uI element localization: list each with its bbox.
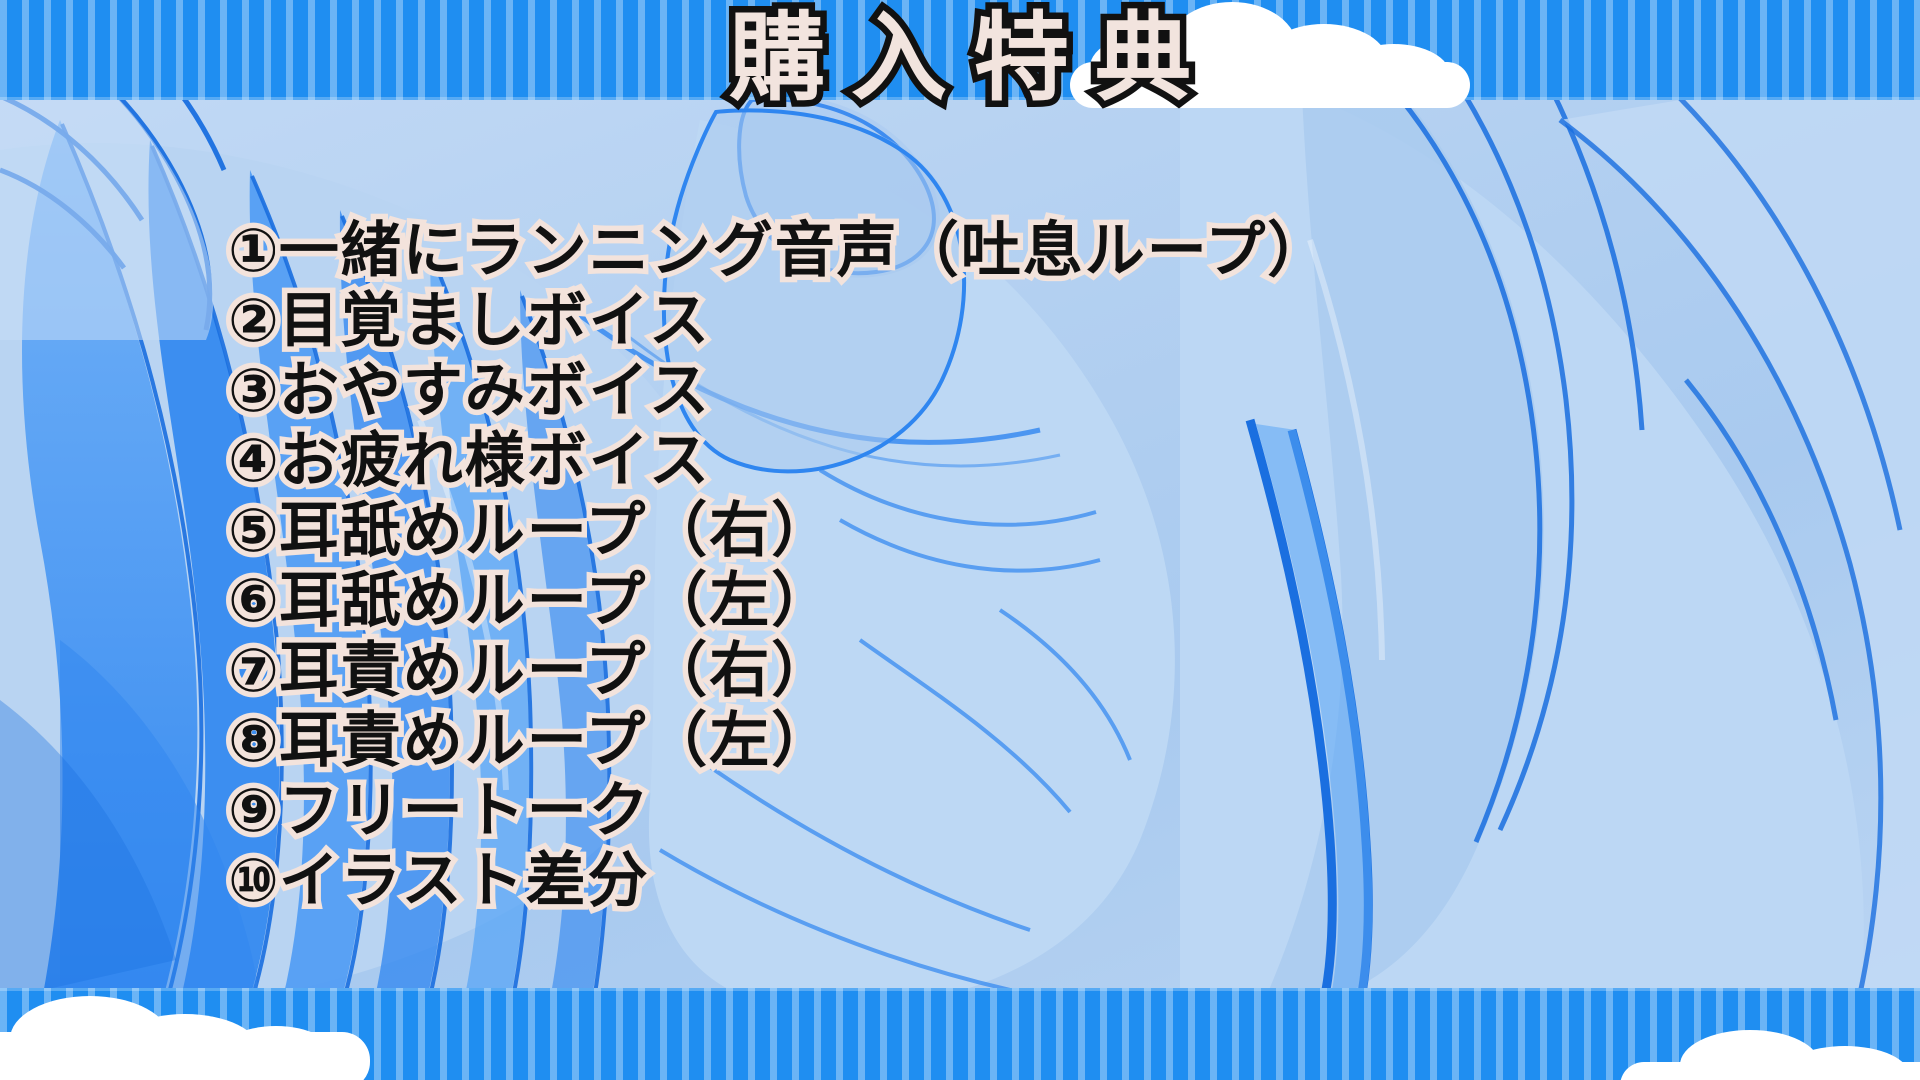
list-item: ⑩イラスト差分 xyxy=(228,846,1688,916)
list-item-number: ② xyxy=(228,286,279,356)
list-item: ①一緒にランニング音声（吐息ループ） xyxy=(228,216,1688,286)
list-item-label: イラスト差分 xyxy=(279,846,650,916)
cloud-cluster-bottom-right xyxy=(1620,1000,1920,1080)
list-item-label: 目覚ましボイス xyxy=(279,286,711,356)
list-item: ⑤耳舐めループ（右） xyxy=(228,496,1688,566)
list-item: ②目覚ましボイス xyxy=(228,286,1688,356)
bonus-list: ①一緒にランニング音声（吐息ループ） ②目覚ましボイス ③おやすみボイス ④お疲… xyxy=(228,216,1688,916)
cloud-cluster-bottom-left xyxy=(0,970,390,1080)
list-item-label: おやすみボイス xyxy=(279,356,711,426)
list-item: ⑨フリートーク xyxy=(228,776,1688,846)
list-item-number: ⑨ xyxy=(228,776,279,846)
list-item-number: ⑥ xyxy=(228,566,279,636)
list-item: ⑦耳責めループ（右） xyxy=(228,636,1688,706)
page-title: 購入特典 xyxy=(0,8,1920,109)
list-item-label: 耳責めループ（右） xyxy=(279,636,833,706)
list-item: ③おやすみボイス xyxy=(228,356,1688,426)
list-item: ⑧耳責めループ（左） xyxy=(228,706,1688,776)
list-item-label: お疲れ様ボイス xyxy=(279,426,711,496)
list-item-label: 耳舐めループ（左） xyxy=(279,566,833,636)
list-item-number: ③ xyxy=(228,356,279,426)
list-item-number: ⑤ xyxy=(228,496,279,566)
list-item-number: ⑧ xyxy=(228,706,279,776)
list-item-label: 耳舐めループ（右） xyxy=(279,496,833,566)
bonus-card: 購入特典 ①一緒にランニング音声（吐息ループ） ②目覚ましボイス ③おやすみボイ… xyxy=(0,0,1920,1080)
list-item-number: ④ xyxy=(228,426,279,496)
list-item: ⑥耳舐めループ（左） xyxy=(228,566,1688,636)
list-item-number: ⑦ xyxy=(228,636,279,706)
list-item-label: 耳責めループ（左） xyxy=(279,706,833,776)
list-item: ④お疲れ様ボイス xyxy=(228,426,1688,496)
list-item-number: ① xyxy=(228,216,279,286)
list-item-label: 一緒にランニング音声（吐息ループ） xyxy=(279,216,1329,286)
list-item-label: フリートーク xyxy=(279,776,651,846)
list-item-number: ⑩ xyxy=(228,846,279,916)
